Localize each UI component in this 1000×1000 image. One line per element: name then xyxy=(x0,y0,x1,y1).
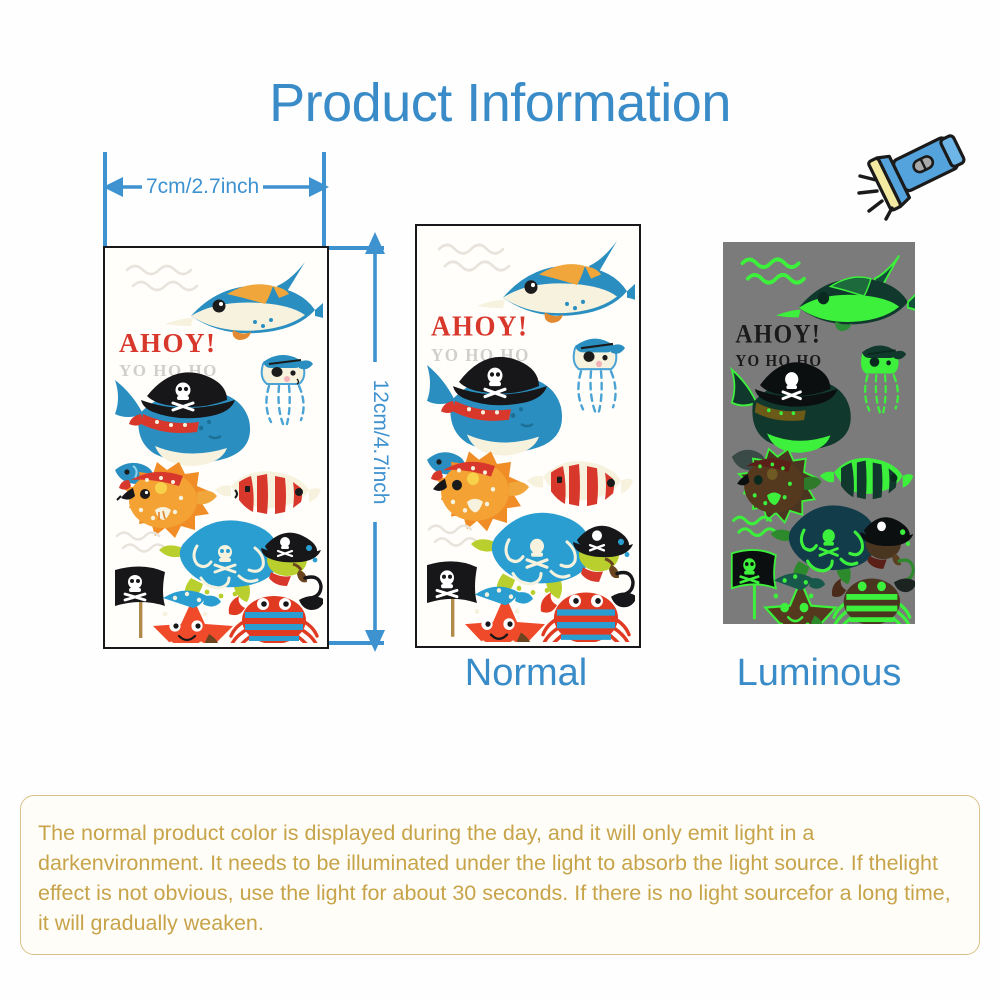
sticker-artwork-luminous: AHOY! YO HO HO xyxy=(723,242,915,624)
sea-turtle-with-pirate-hat xyxy=(159,520,321,602)
caption-luminous: Luminous xyxy=(713,652,925,695)
pirate-whale-with-skull-hat xyxy=(115,372,250,466)
caption-normal: Normal xyxy=(415,652,637,695)
dim-width-label: 7cm/2.7inch xyxy=(142,175,263,199)
note-line-1: The normal product color is displayed du… xyxy=(38,821,814,845)
svg-text:AHOY!: AHOY! xyxy=(735,321,821,349)
waves xyxy=(127,266,197,290)
dim-height-label: 12cm/4.7inch xyxy=(368,362,392,522)
note-line-2: darkenvironment. It needs to be illumina… xyxy=(38,851,845,875)
striped-red-fish xyxy=(215,471,321,514)
flashlight-icon xyxy=(852,118,980,227)
svg-text:AHOY!: AHOY! xyxy=(431,310,528,342)
sticker-artwork: AHOY! YO HO HO xyxy=(105,248,323,643)
sticker-sheet-measured[interactable]: AHOY! YO HO HO xyxy=(103,246,329,649)
page-title: Product Information xyxy=(0,72,1000,134)
sticker-sheet-normal[interactable]: AHOY! YO HO HO xyxy=(415,224,641,648)
ahoy-text: AHOY! xyxy=(119,328,217,358)
sticker-sheet-luminous[interactable]: AHOY! YO HO HO xyxy=(723,242,915,624)
note-text: The normal product color is displayed du… xyxy=(38,818,958,938)
jellyfish-with-eyepatch xyxy=(262,355,313,424)
sticker-artwork-normal: AHOY! YO HO HO xyxy=(417,226,635,642)
